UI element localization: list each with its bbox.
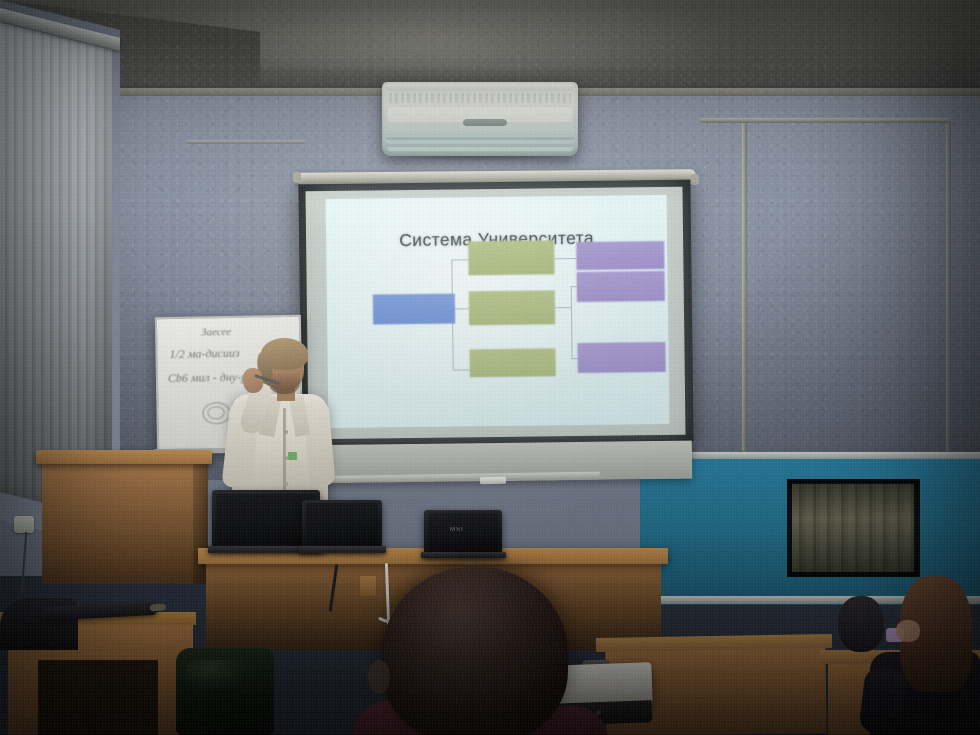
audience-person-right-arm [858,666,908,735]
laptop-2-base[interactable] [299,546,386,553]
diagram-connector-branch-1 [451,259,468,260]
audience-foreground-ear [368,660,390,694]
projected-slide: Система Университета [326,195,670,428]
classroom-photo: Система Университета Заесее 1/2 ма-дисии… [0,0,980,735]
presenter-coat-button-1 [284,430,288,434]
diagram-leaf-box-3 [577,342,665,373]
diagram-leaf-box-2 [577,271,665,302]
air-conditioner-top [386,84,574,91]
radiator-niche-shadow [787,479,920,577]
front-desk-ornament [360,576,376,596]
air-conditioner-intake-grille [389,93,571,103]
presenter-coat-button-3 [284,482,288,486]
diagram-branch-box-1 [468,240,554,275]
whiteboard-line-3: Сb6 мил - дну-р [168,370,247,386]
laptop-3-base[interactable] [421,552,506,558]
presenter-badge [288,452,297,460]
marker-pen[interactable] [480,477,506,484]
projector-screen-mount-right [690,174,699,185]
audience-foreground-hair-texture [382,566,568,735]
diagram-branch-box-2 [469,290,555,325]
laptop-3-logo: MSI [450,527,464,533]
audience-person-far-head [838,596,884,652]
whiteboard-line-2: 1/2 ма-дисииз [169,346,239,362]
projector-screen-mount-left [293,172,301,183]
diagram-branch-box-3 [469,348,555,377]
laptop-2-screen[interactable] [306,503,378,545]
diagram-root-box [373,294,455,325]
lectern-shading [42,462,208,584]
backpack-highlight [186,660,248,690]
audience-person-right-hand [896,620,920,642]
whiteboard-line-1: Заесее [201,326,231,339]
air-conditioner-handle[interactable] [463,119,507,126]
diagram-leaf-box-1 [576,241,664,270]
diagram-connector-branch-3 [453,369,470,370]
laptop-1-screen[interactable] [216,494,316,544]
power-outlet[interactable] [14,516,34,533]
air-conditioner-louvers [386,133,574,152]
left-desk-shadow [38,660,158,735]
window-blinds-shading [0,22,112,520]
umbrella-handle[interactable] [150,603,166,611]
lectern-top [36,450,212,464]
diagram-connector-leaf-mid [555,307,571,308]
